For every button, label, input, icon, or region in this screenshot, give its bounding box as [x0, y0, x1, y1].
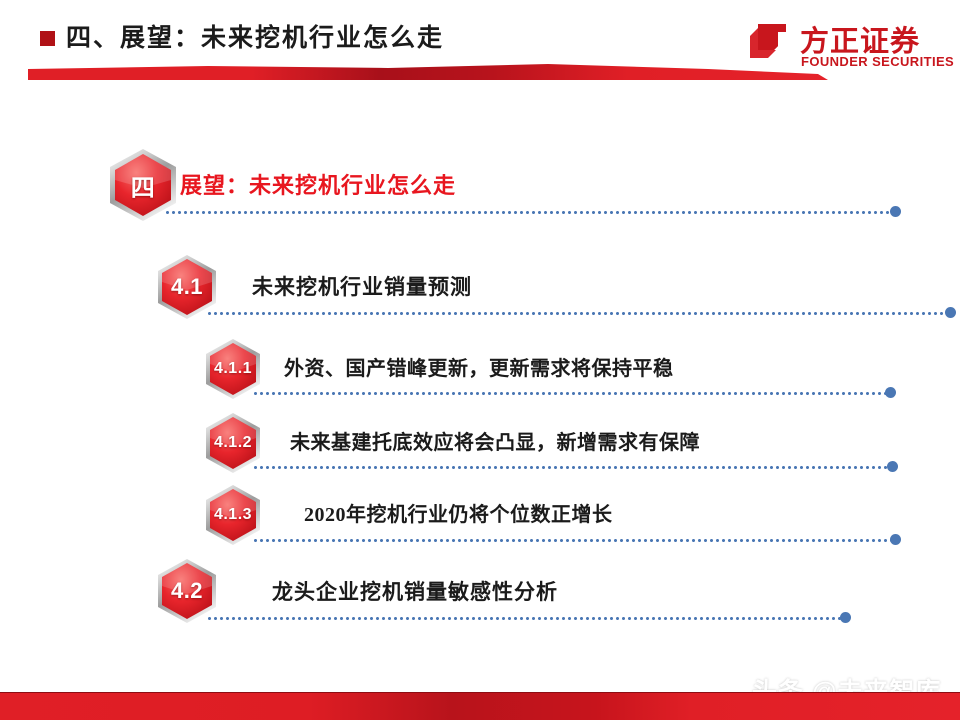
row-connector-dots [254, 466, 888, 469]
row-connector-dots [254, 392, 886, 395]
row-connector-endpoint [890, 534, 901, 545]
row-connector-dots [166, 211, 896, 214]
logo-english-name: FOUNDER SECURITIES [801, 54, 954, 69]
row-connector-endpoint [885, 387, 896, 398]
outline-row-label: 外资、国产错峰更新，更新需求将保持平稳 [284, 352, 674, 381]
hexagon-badge[interactable]: 4.1.1 [204, 338, 262, 400]
hexagon-badge[interactable]: 4.1.2 [204, 412, 262, 474]
row-connector-endpoint [887, 461, 898, 472]
square-bullet-icon [40, 31, 55, 46]
row-connector-dots [254, 539, 891, 542]
footer-bar [0, 692, 960, 720]
outline-row-label: 龙头企业挖机销量敏感性分析 [272, 576, 558, 606]
outline-row-label: 展望：未来挖机行业怎么走 [180, 168, 456, 200]
hexagon-badge[interactable]: 4.2 [156, 558, 218, 624]
row-connector-endpoint [890, 206, 901, 217]
row-connector-endpoint [840, 612, 851, 623]
company-logo: 方正证券 FOUNDER SECURITIES [748, 18, 938, 74]
row-connector-endpoint [945, 307, 956, 318]
hexagon-badge[interactable]: 4.1.3 [204, 484, 262, 546]
outline-row-label: 未来基建托底效应将会凸显，新增需求有保障 [290, 426, 700, 455]
hexagon-badge[interactable]: 4.1 [156, 254, 218, 320]
slide-canvas: 四、展望：未来挖机行业怎么走 方正证券 FOUNDER SECURITIES [0, 0, 960, 720]
row-connector-dots [208, 617, 843, 620]
outline-row-label: 2020年挖机行业仍将个位数正增长 [304, 498, 613, 527]
page-title: 四、展望：未来挖机行业怎么走 [66, 18, 444, 54]
row-connector-dots [208, 312, 950, 315]
header-accent-wedge [28, 62, 828, 84]
outline-row-label: 未来挖机行业销量预测 [252, 271, 472, 301]
founder-securities-logo-icon [748, 22, 790, 62]
